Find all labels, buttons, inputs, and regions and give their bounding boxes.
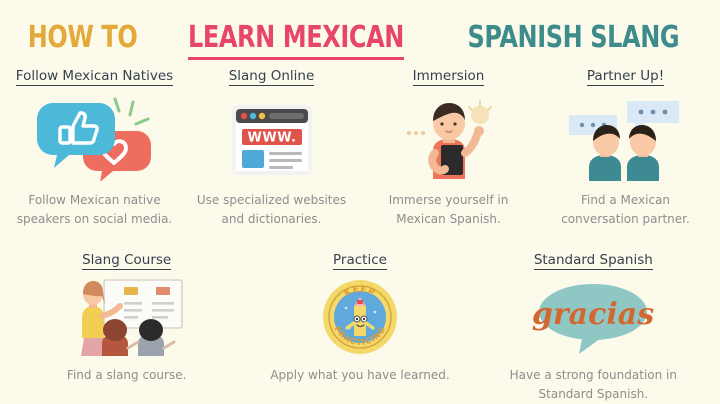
card-slang-course: Slang Course	[10, 252, 243, 404]
title-segment-learn-mexican: LEARN MEXICAN	[188, 20, 404, 60]
card-title: Immersion	[413, 68, 485, 86]
tips-row-bottom: Slang Course	[0, 252, 720, 404]
card-description: Find a slang course.	[67, 366, 186, 385]
card-immersion: Immersion	[360, 68, 537, 229]
page-title: HOW TO LEARN MEXICAN SPANISH SLANG	[0, 20, 720, 60]
card-description: Follow Mexican native speakers on social…	[12, 191, 177, 229]
card-title: Standard Spanish	[534, 252, 653, 270]
title-segment-spanish-slang: SPANISH SLANG	[468, 20, 680, 56]
tips-row-top: Follow Mexican Natives	[0, 68, 720, 229]
infographic-poster: HOW TO LEARN MEXICAN SPANISH SLANG Follo…	[0, 0, 720, 404]
gracias-speech-bubble-icon: gracias	[527, 277, 659, 357]
card-title: Follow Mexican Natives	[16, 68, 173, 86]
keep-practicing-badge-icon: KEEP PRACTICING	[321, 277, 399, 357]
card-title: Practice	[333, 252, 387, 270]
browser-www-label: WWW.	[247, 131, 296, 146]
card-practice: Practice	[243, 252, 476, 404]
card-standard-spanish: Standard Spanish gracias Have a strong f…	[477, 252, 710, 404]
card-description: Have a strong foundation in Standard Spa…	[487, 366, 700, 404]
card-slang-online: Slang Online WWW. Us	[183, 68, 360, 229]
browser-window-www-icon: WWW.	[228, 95, 316, 183]
two-people-talking-icon	[565, 95, 687, 183]
card-description: Find a Mexican conversation partner.	[543, 191, 708, 229]
title-segment-how-to: HOW TO	[28, 20, 138, 56]
card-description: Immerse yourself in Mexican Spanish.	[366, 191, 531, 229]
card-description: Use specialized websites and dictionarie…	[189, 191, 354, 229]
card-description: Apply what you have learned.	[270, 366, 449, 385]
gracias-label: gracias	[532, 297, 654, 332]
speech-bubbles-thumbsup-heart-icon	[35, 95, 155, 183]
card-partner-up: Partner Up!	[537, 68, 714, 229]
card-title: Partner Up!	[587, 68, 664, 86]
teacher-whiteboard-classroom-icon	[68, 277, 186, 357]
card-follow-mexican-natives: Follow Mexican Natives	[6, 68, 183, 229]
person-with-tablet-icon	[397, 95, 501, 183]
card-title: Slang Course	[82, 252, 171, 270]
card-title: Slang Online	[229, 68, 315, 86]
